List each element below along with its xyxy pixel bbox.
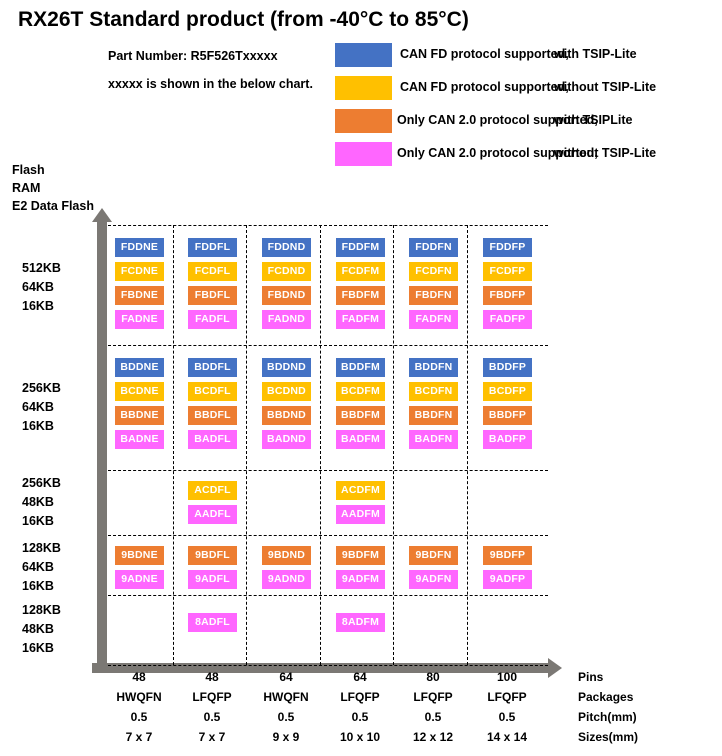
x-axis-package-value: HWQFN <box>252 690 320 704</box>
memory-ram-value: 48KB <box>22 620 102 639</box>
row-memory-label: 256KB48KB16KB <box>22 474 102 531</box>
memory-ram-value: 64KB <box>22 398 102 417</box>
grid-line-vertical <box>173 225 174 665</box>
part-number-cell[interactable]: 9BDNE <box>115 546 164 565</box>
part-number-cell[interactable]: AADFL <box>188 505 237 524</box>
part-number-cell[interactable]: 8ADFL <box>188 613 237 632</box>
memory-ram-value: 48KB <box>22 493 102 512</box>
part-number-cell[interactable]: BBDNE <box>115 406 164 425</box>
part-number-cell[interactable]: FDDND <box>262 238 311 257</box>
part-number-cell[interactable]: 9ADFN <box>409 570 458 589</box>
part-number-cell[interactable]: 9ADFM <box>336 570 385 589</box>
memory-e2-value: 16KB <box>22 639 102 658</box>
part-number-cell[interactable]: 9BDFL <box>188 546 237 565</box>
x-axis-package-value: HWQFN <box>105 690 173 704</box>
part-number-cell[interactable]: 9BDFP <box>483 546 532 565</box>
x-axis-caption-sizes: Sizes(mm) <box>578 730 638 744</box>
x-axis-caption-pins: Pins <box>578 670 603 684</box>
part-number-cell[interactable]: FCDNE <box>115 262 164 281</box>
memory-e2-value: 16KB <box>22 512 102 531</box>
memory-ram-value: 64KB <box>22 558 102 577</box>
x-axis-package-value: LFQFP <box>178 690 246 704</box>
part-number-cell[interactable]: FDDFP <box>483 238 532 257</box>
x-axis-pitch-value: 0.5 <box>105 710 173 724</box>
part-number-cell[interactable]: FADND <box>262 310 311 329</box>
x-axis-size-value: 10 x 10 <box>326 730 394 744</box>
part-number-cell[interactable]: BCDFL <box>188 382 237 401</box>
part-number-cell[interactable]: BDDND <box>262 358 311 377</box>
part-number-cell[interactable]: FCDFM <box>336 262 385 281</box>
grid-line-vertical <box>320 225 321 665</box>
grid-line-horizontal <box>108 225 548 226</box>
grid-line-horizontal <box>108 665 548 666</box>
part-number-cell[interactable]: FBDFP <box>483 286 532 305</box>
part-number-cell[interactable]: BBDFM <box>336 406 385 425</box>
part-number-cell[interactable]: BBDFL <box>188 406 237 425</box>
part-number-cell[interactable]: FDDFL <box>188 238 237 257</box>
x-axis-pins-value: 48 <box>178 670 246 684</box>
memory-e2-value: 16KB <box>22 297 102 316</box>
memory-flash-value: 256KB <box>22 379 102 398</box>
part-number-cell[interactable]: FBDFN <box>409 286 458 305</box>
part-number-cell[interactable]: FBDNE <box>115 286 164 305</box>
part-number-cell[interactable]: BADFL <box>188 430 237 449</box>
part-number-cell[interactable]: FDDNE <box>115 238 164 257</box>
x-axis-pitch-value: 0.5 <box>326 710 394 724</box>
part-number-cell[interactable]: BDDFL <box>188 358 237 377</box>
x-axis-caption-pitch: Pitch(mm) <box>578 710 637 724</box>
x-axis-size-value: 9 x 9 <box>252 730 320 744</box>
row-memory-label: 512KB64KB16KB <box>22 259 102 316</box>
part-number-cell[interactable]: BBDFP <box>483 406 532 425</box>
x-axis-arrowhead <box>548 658 562 678</box>
part-number-cell[interactable]: BDDNE <box>115 358 164 377</box>
grid-line-horizontal <box>108 470 548 471</box>
part-number-cell[interactable]: FDDFN <box>409 238 458 257</box>
part-number-cell[interactable]: AADFM <box>336 505 385 524</box>
part-number-cell[interactable]: FADFM <box>336 310 385 329</box>
part-number-cell[interactable]: 9ADFL <box>188 570 237 589</box>
part-number-cell[interactable]: BADFP <box>483 430 532 449</box>
memory-flash-value: 128KB <box>22 539 102 558</box>
x-axis-pins-value: 64 <box>252 670 320 684</box>
part-number-cell[interactable]: 9ADFP <box>483 570 532 589</box>
x-axis-size-value: 12 x 12 <box>399 730 467 744</box>
part-number-cell[interactable]: ACDFL <box>188 481 237 500</box>
part-number-cell[interactable]: BADFN <box>409 430 458 449</box>
part-number-cell[interactable]: FADFL <box>188 310 237 329</box>
memory-flash-value: 256KB <box>22 474 102 493</box>
x-axis-pitch-value: 0.5 <box>399 710 467 724</box>
x-axis-caption-packages: Packages <box>578 690 633 704</box>
memory-flash-value: 512KB <box>22 259 102 278</box>
part-number-cell[interactable]: BCDFM <box>336 382 385 401</box>
x-axis-package-value: LFQFP <box>473 690 541 704</box>
part-number-cell[interactable]: 9BDFM <box>336 546 385 565</box>
part-number-cell[interactable]: FCDFL <box>188 262 237 281</box>
part-number-cell[interactable]: BCDNE <box>115 382 164 401</box>
part-number-cell[interactable]: ACDFM <box>336 481 385 500</box>
part-number-cell[interactable]: BCDND <box>262 382 311 401</box>
part-number-cell[interactable]: 8ADFM <box>336 613 385 632</box>
part-number-cell[interactable]: BBDND <box>262 406 311 425</box>
x-axis-size-value: 14 x 14 <box>473 730 541 744</box>
memory-e2-value: 16KB <box>22 417 102 436</box>
grid-line-horizontal <box>108 345 548 346</box>
part-number-cell[interactable]: BADFM <box>336 430 385 449</box>
x-axis-size-value: 7 x 7 <box>105 730 173 744</box>
x-axis-pins-value: 64 <box>326 670 394 684</box>
memory-flash-value: 128KB <box>22 601 102 620</box>
part-number-cell[interactable]: 9BDFN <box>409 546 458 565</box>
x-axis-size-value: 7 x 7 <box>178 730 246 744</box>
part-number-cell[interactable]: BBDFN <box>409 406 458 425</box>
x-axis-pitch-value: 0.5 <box>473 710 541 724</box>
grid-line-vertical <box>393 225 394 665</box>
part-number-cell[interactable]: BCDFP <box>483 382 532 401</box>
part-number-cell[interactable]: FADNE <box>115 310 164 329</box>
part-number-cell[interactable]: FBDND <box>262 286 311 305</box>
product-matrix-chart: 512KB64KB16KB256KB64KB16KB256KB48KB16KB1… <box>0 0 722 756</box>
part-number-cell[interactable]: FDDFM <box>336 238 385 257</box>
grid-line-horizontal <box>108 535 548 536</box>
part-number-cell[interactable]: BCDFN <box>409 382 458 401</box>
part-number-cell[interactable]: BDDFN <box>409 358 458 377</box>
row-memory-label: 128KB64KB16KB <box>22 539 102 596</box>
memory-ram-value: 64KB <box>22 278 102 297</box>
part-number-cell[interactable]: BADND <box>262 430 311 449</box>
part-number-cell[interactable]: FCDFN <box>409 262 458 281</box>
part-number-cell[interactable]: FBDFL <box>188 286 237 305</box>
part-number-cell[interactable]: BDDFM <box>336 358 385 377</box>
x-axis-pins-value: 100 <box>473 670 541 684</box>
row-memory-label: 256KB64KB16KB <box>22 379 102 436</box>
part-number-cell[interactable]: FCDFP <box>483 262 532 281</box>
part-number-cell[interactable]: BADNE <box>115 430 164 449</box>
part-number-cell[interactable]: 9ADND <box>262 570 311 589</box>
row-memory-label: 128KB48KB16KB <box>22 601 102 658</box>
x-axis-package-value: LFQFP <box>326 690 394 704</box>
part-number-cell[interactable]: BDDFP <box>483 358 532 377</box>
part-number-cell[interactable]: FBDFM <box>336 286 385 305</box>
grid-line-vertical <box>246 225 247 665</box>
part-number-cell[interactable]: 9BDND <box>262 546 311 565</box>
x-axis-pitch-value: 0.5 <box>252 710 320 724</box>
grid-line-vertical <box>467 225 468 665</box>
part-number-cell[interactable]: FCDND <box>262 262 311 281</box>
part-number-cell[interactable]: FADFP <box>483 310 532 329</box>
x-axis-package-value: LFQFP <box>399 690 467 704</box>
x-axis-pitch-value: 0.5 <box>178 710 246 724</box>
x-axis-pins-value: 80 <box>399 670 467 684</box>
part-number-cell[interactable]: 9ADNE <box>115 570 164 589</box>
memory-e2-value: 16KB <box>22 577 102 596</box>
x-axis-pins-value: 48 <box>105 670 173 684</box>
grid-line-horizontal <box>108 595 548 596</box>
part-number-cell[interactable]: FADFN <box>409 310 458 329</box>
